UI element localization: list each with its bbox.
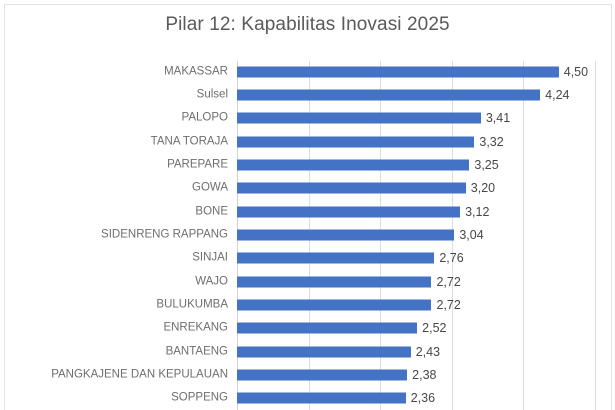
value-label: 4,50 — [559, 65, 588, 79]
category-label: BANTAENG — [0, 345, 228, 358]
bar-fill — [237, 369, 407, 380]
category-label: Sulsel — [0, 88, 228, 101]
value-label: 3,04 — [454, 228, 483, 242]
bar-row: SINJAI2,76 — [0, 247, 615, 270]
bar-row: SIDENRENG RAPPANG3,04 — [0, 223, 615, 246]
bar[interactable] — [237, 369, 407, 380]
value-label: 2,76 — [434, 251, 463, 265]
bar-row: PAREPARE3,25 — [0, 153, 615, 176]
bar-fill — [237, 276, 431, 287]
value-label: 3,41 — [481, 111, 510, 125]
bar[interactable] — [237, 276, 431, 287]
chart-title: Pilar 12: Kapabilitas Inovasi 2025 — [0, 14, 615, 36]
bar[interactable] — [237, 206, 460, 217]
bar-fill — [237, 393, 406, 404]
value-label: 3,12 — [460, 205, 489, 219]
bar-fill — [237, 159, 469, 170]
bar-fill — [237, 136, 474, 147]
bar-fill — [237, 113, 481, 124]
bar[interactable] — [237, 113, 481, 124]
bar-row: PANGKAJENE DAN KEPULAUAN2,38 — [0, 363, 615, 386]
bar-row: PALOPO3,41 — [0, 107, 615, 130]
bar[interactable] — [237, 89, 540, 100]
bar[interactable] — [237, 66, 559, 77]
category-label: BONE — [0, 205, 228, 218]
bar-fill — [237, 66, 559, 77]
bar-fill — [237, 206, 460, 217]
category-label: BULUKUMBA — [0, 298, 228, 311]
bar[interactable] — [237, 346, 411, 357]
value-label: 2,72 — [431, 275, 460, 289]
bar[interactable] — [237, 299, 431, 310]
bar-fill — [237, 183, 466, 194]
bar-row: Sulsel4,24 — [0, 83, 615, 106]
bar[interactable] — [237, 136, 474, 147]
bar[interactable] — [237, 183, 466, 194]
plot-area: MAKASSAR4,50Sulsel4,24PALOPO3,41TANA TOR… — [0, 60, 615, 410]
category-label: GOWA — [0, 182, 228, 195]
bar-row: BANTAENG2,43 — [0, 340, 615, 363]
bar-fill — [237, 89, 540, 100]
bar-row: ENREKANG2,52 — [0, 317, 615, 340]
value-label: 3,32 — [474, 135, 503, 149]
bar-row: TANA TORAJA3,32 — [0, 130, 615, 153]
bar[interactable] — [237, 393, 406, 404]
value-label: 2,52 — [417, 321, 446, 335]
bar[interactable] — [237, 323, 417, 334]
category-label: PANGKAJENE DAN KEPULAUAN — [0, 368, 228, 381]
bar-fill — [237, 346, 411, 357]
bar-fill — [237, 253, 434, 264]
chart-container: Pilar 12: Kapabilitas Inovasi 2025 MAKAS… — [0, 0, 615, 410]
category-label: WAJO — [0, 275, 228, 288]
value-label: 2,38 — [407, 368, 436, 382]
category-label: SOPPENG — [0, 392, 228, 405]
category-label: TANA TORAJA — [0, 135, 228, 148]
category-label: ENREKANG — [0, 322, 228, 335]
value-label: 2,43 — [411, 345, 440, 359]
bar-rows: MAKASSAR4,50Sulsel4,24PALOPO3,41TANA TOR… — [0, 60, 615, 410]
bar-row: BONE3,12 — [0, 200, 615, 223]
value-label: 2,72 — [431, 298, 460, 312]
bar-fill — [237, 323, 417, 334]
bar-fill — [237, 299, 431, 310]
bar[interactable] — [237, 229, 454, 240]
bar[interactable] — [237, 253, 434, 264]
category-label: MAKASSAR — [0, 65, 228, 78]
value-label: 4,24 — [540, 88, 569, 102]
bar-row: SOPPENG2,36 — [0, 387, 615, 410]
value-label: 3,25 — [469, 158, 498, 172]
category-label: SIDENRENG RAPPANG — [0, 228, 228, 241]
bar[interactable] — [237, 159, 469, 170]
bar-fill — [237, 229, 454, 240]
bar-row: BULUKUMBA2,72 — [0, 293, 615, 316]
bar-row: WAJO2,72 — [0, 270, 615, 293]
value-label: 3,20 — [466, 181, 495, 195]
value-label: 2,36 — [406, 391, 435, 405]
category-label: PALOPO — [0, 112, 228, 125]
bar-row: MAKASSAR4,50 — [0, 60, 615, 83]
bar-row: GOWA3,20 — [0, 177, 615, 200]
category-label: PAREPARE — [0, 158, 228, 171]
category-label: SINJAI — [0, 252, 228, 265]
